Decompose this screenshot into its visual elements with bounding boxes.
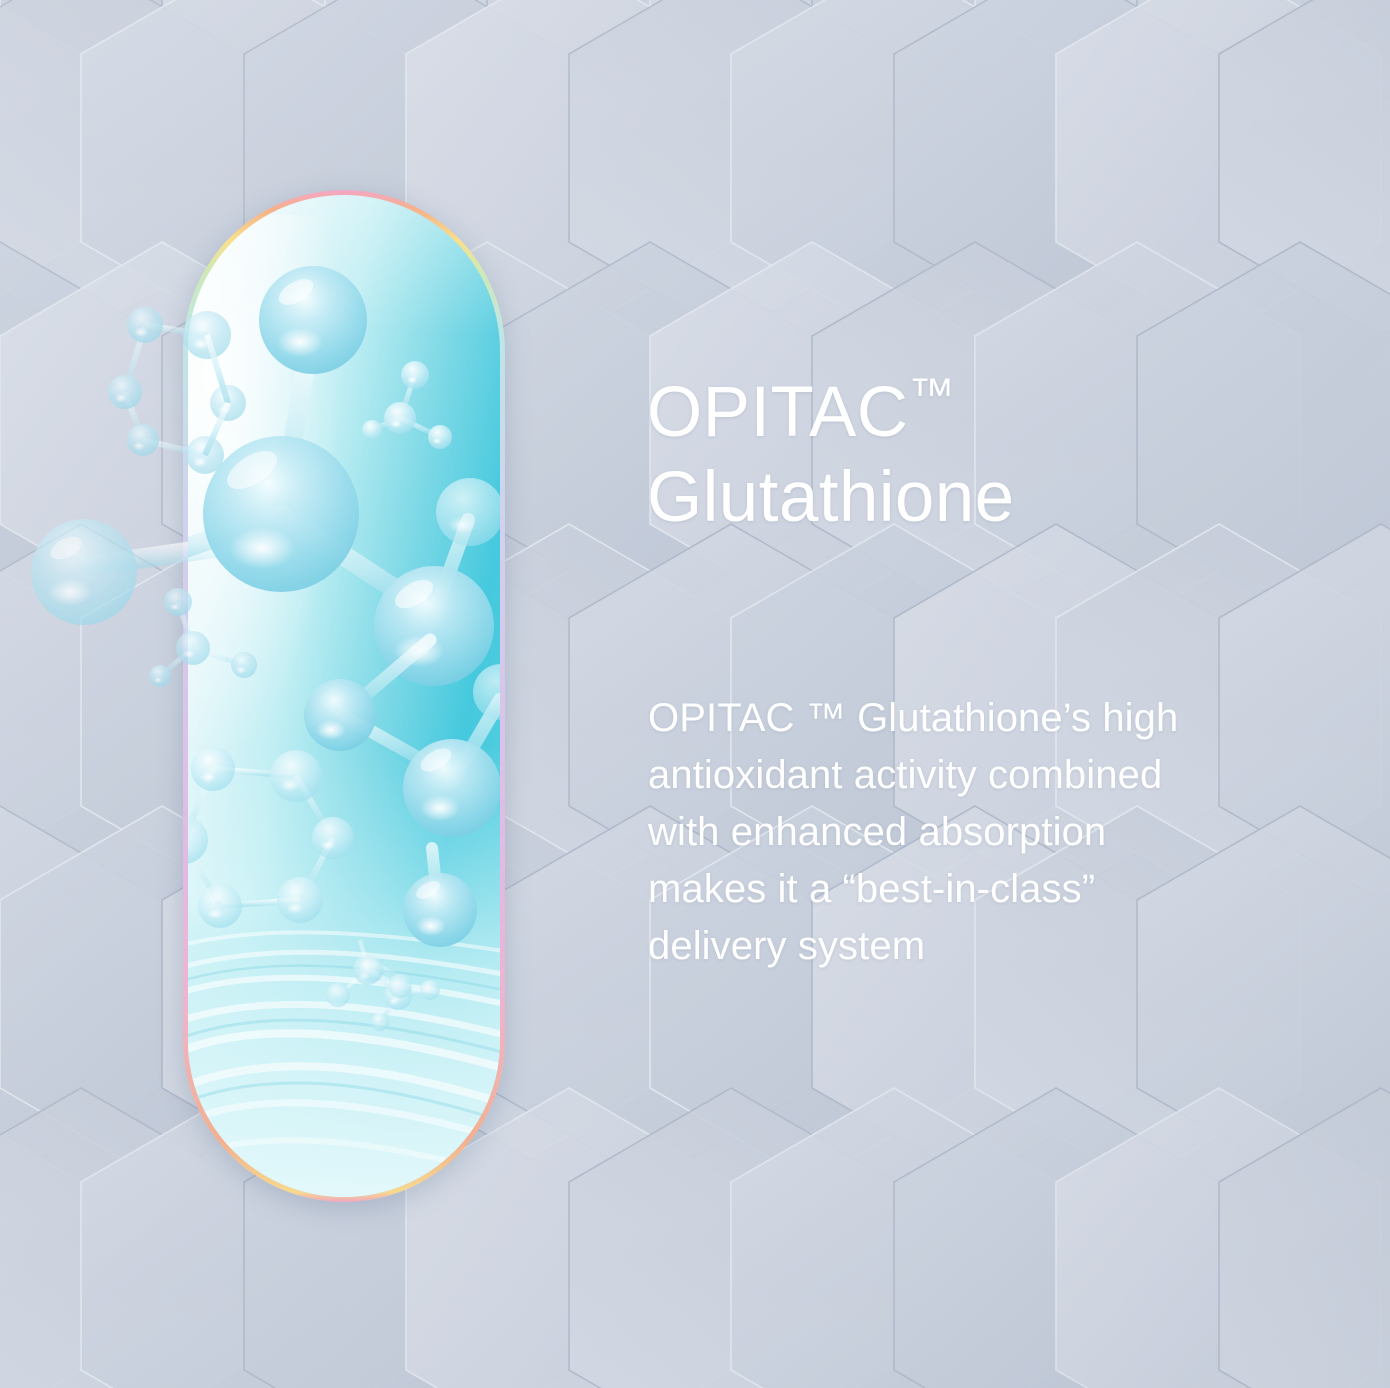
body-paragraph: OPITAC ™ Glutathione’s high antioxidant … — [648, 690, 1308, 975]
body-line-2: antioxidant activity combined — [648, 753, 1162, 797]
water-ripples — [188, 897, 500, 1197]
capsule-liquid — [188, 195, 500, 1197]
trademark-symbol: ™ — [908, 368, 954, 420]
page-title: OPITAC™ Glutathione — [647, 352, 1307, 540]
body-line-1: OPITAC ™ Glutathione’s high — [648, 696, 1178, 740]
body-line-5: delivery system — [648, 924, 925, 968]
capsule-body — [183, 190, 505, 1202]
headline-line-1: OPITAC — [647, 373, 908, 452]
body-line-4: makes it a “best-in-class” — [648, 867, 1095, 911]
capsule-highlight — [188, 215, 350, 796]
headline-line-2: Glutathione — [647, 458, 1015, 537]
slide-canvas: OPITAC™ Glutathione OPITAC ™ Glutathione… — [0, 0, 1390, 1388]
capsule-graphic — [183, 190, 505, 1202]
body-line-3: with enhanced absorption — [648, 810, 1106, 854]
text-column: OPITAC™ Glutathione OPITAC ™ Glutathione… — [647, 0, 1307, 1388]
